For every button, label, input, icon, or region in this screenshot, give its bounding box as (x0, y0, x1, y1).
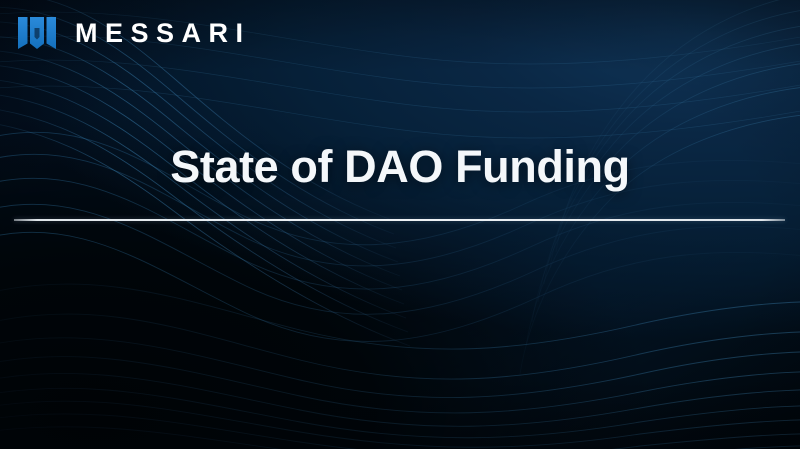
title-divider-rule (14, 219, 785, 221)
messari-m-mark-icon (17, 16, 57, 50)
messari-logo-lockup[interactable]: MESSARI (17, 16, 251, 50)
title-slide: MESSARI State of DAO Funding (0, 0, 800, 449)
slide-title: State of DAO Funding (0, 143, 800, 190)
messari-wordmark: MESSARI (75, 20, 251, 47)
background-topographic-waves (0, 0, 800, 449)
